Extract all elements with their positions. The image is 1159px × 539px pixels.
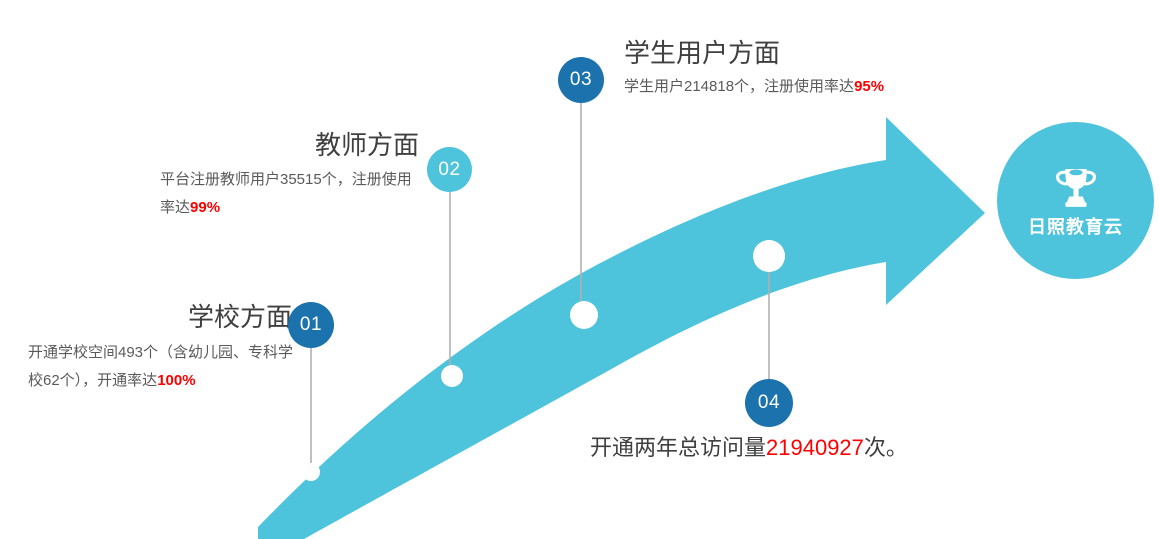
step-badge-01[interactable]: 01 <box>288 302 334 348</box>
growth-arrow-infographic: 学校方面 开通学校空间493个（含幼儿园、专科学校62个），开通率达100% 教… <box>0 0 1159 539</box>
block-04-highlight: 21940927 <box>766 435 864 460</box>
block-03-highlight: 95% <box>854 78 884 95</box>
block-04-caption: 开通两年总访问量21940927次。 <box>590 435 930 461</box>
step-badge-04[interactable]: 04 <box>745 379 793 427</box>
milestone-block-04: 开通两年总访问量21940927次。 <box>590 435 930 461</box>
milestone-block-01: 学校方面 开通学校空间493个（含幼儿园、专科学校62个），开通率达100% <box>28 303 296 394</box>
step-badge-03-label: 03 <box>570 69 592 91</box>
block-03-heading: 学生用户方面 <box>624 39 914 69</box>
milestone-dot-01 <box>302 463 320 481</box>
block-01-heading: 学校方面 <box>28 303 296 333</box>
step-badge-02[interactable]: 02 <box>427 147 472 192</box>
milestone-block-03: 学生用户方面 学生用户214818个，注册使用率达95% <box>624 39 914 101</box>
milestone-dot-03 <box>570 301 598 329</box>
block-04-caption-after: 次。 <box>864 435 908 460</box>
step-badge-04-label: 04 <box>758 392 780 414</box>
goal-circle[interactable]: 日照教育云 <box>997 122 1154 279</box>
milestone-block-02: 教师方面 平台注册教师用户35515个，注册使用率达99% <box>160 131 425 221</box>
milestone-dot-04 <box>753 240 785 272</box>
goal-label: 日照教育云 <box>1028 218 1123 236</box>
block-03-body-text: 学生用户214818个，注册使用率达 <box>624 78 854 95</box>
trophy-icon <box>1052 166 1100 212</box>
block-01-body: 开通学校空间493个（含幼儿园、专科学校62个），开通率达100% <box>28 339 296 395</box>
step-badge-01-label: 01 <box>300 314 322 336</box>
block-03-body: 学生用户214818个，注册使用率达95% <box>624 73 914 101</box>
block-01-highlight: 100% <box>157 372 195 389</box>
block-04-caption-before: 开通两年总访问量 <box>590 435 766 460</box>
block-02-heading: 教师方面 <box>160 131 425 161</box>
block-02-highlight: 99% <box>190 199 220 216</box>
block-02-body: 平台注册教师用户35515个，注册使用率达99% <box>160 166 425 222</box>
milestone-dot-02 <box>441 365 463 387</box>
step-badge-03[interactable]: 03 <box>558 57 604 103</box>
step-badge-02-label: 02 <box>438 159 460 181</box>
